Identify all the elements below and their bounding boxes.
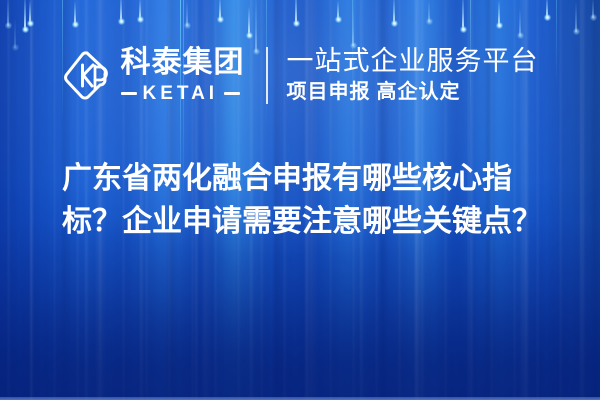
brand-lockup: 科泰集团 KETAI <box>62 48 245 103</box>
brand-name-en-row: KETAI <box>121 84 245 103</box>
tagline-main: 一站式企业服务平台 <box>287 47 539 75</box>
banner-header: 科泰集团 KETAI 一站式企业服务平台 项目申报 高企认定 <box>0 38 600 112</box>
header-divider <box>266 47 268 104</box>
brand-name-cn: 科泰集团 <box>121 48 245 78</box>
brand-name-en: KETAI <box>143 84 219 103</box>
brand-text: 科泰集团 KETAI <box>121 48 245 103</box>
tagline-sub: 项目申报 高企认定 <box>287 82 539 103</box>
page-title: 广东省两化融合申报有哪些核心指标？企业申请需要注意哪些关键点？ <box>62 158 556 243</box>
ketai-logo-icon <box>62 49 112 101</box>
article-banner: 科泰集团 KETAI 一站式企业服务平台 项目申报 高企认定 广东省两化融合申报… <box>0 0 600 400</box>
brand-dash-left-icon <box>121 92 137 95</box>
tagline-block: 一站式企业服务平台 项目申报 高企认定 <box>287 47 539 103</box>
brand-dash-right-icon <box>224 92 240 95</box>
